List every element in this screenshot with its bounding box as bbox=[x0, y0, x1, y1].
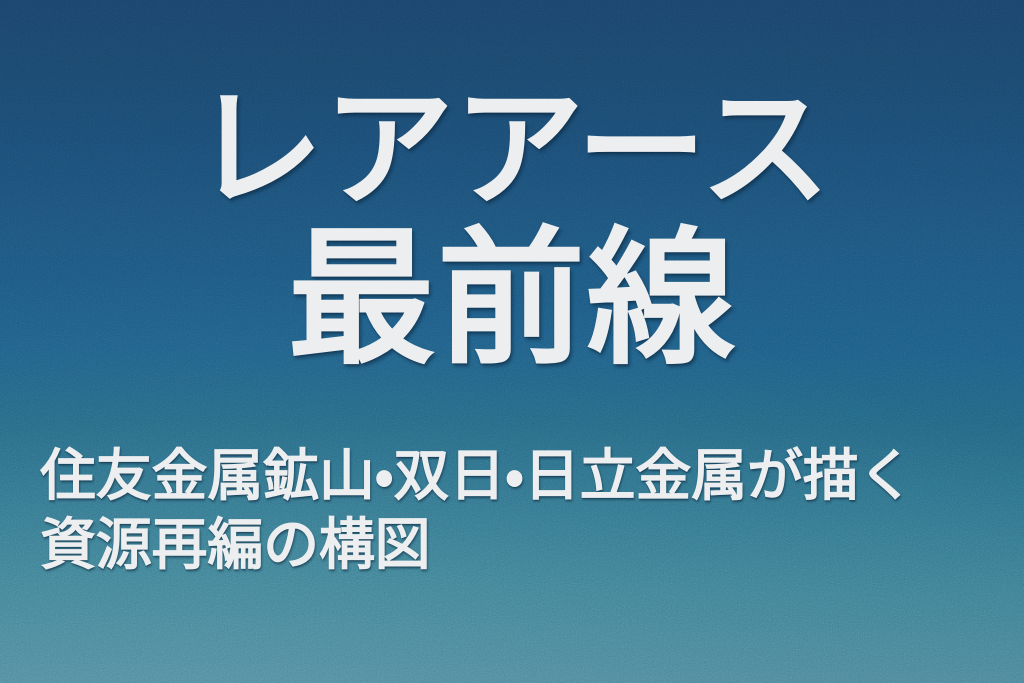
subheadline-block: 住友金属鉱山・双日・日立金属が描く 資源再編の構図 bbox=[40, 441, 984, 580]
headline-block: レアアース 最前線 bbox=[0, 84, 1024, 374]
poster-content: レアアース 最前線 住友金属鉱山・双日・日立金属が描く 資源再編の構図 bbox=[0, 0, 1024, 683]
poster-canvas: レアアース 最前線 住友金属鉱山・双日・日立金属が描く 資源再編の構図 bbox=[0, 0, 1024, 683]
subheadline-line-1: 住友金属鉱山・双日・日立金属が描く bbox=[40, 441, 984, 510]
subheadline-line-2: 資源再編の構図 bbox=[40, 510, 984, 579]
headline-line-2: 最前線 bbox=[0, 226, 1024, 374]
headline-line-1: レアアース bbox=[0, 84, 1024, 214]
